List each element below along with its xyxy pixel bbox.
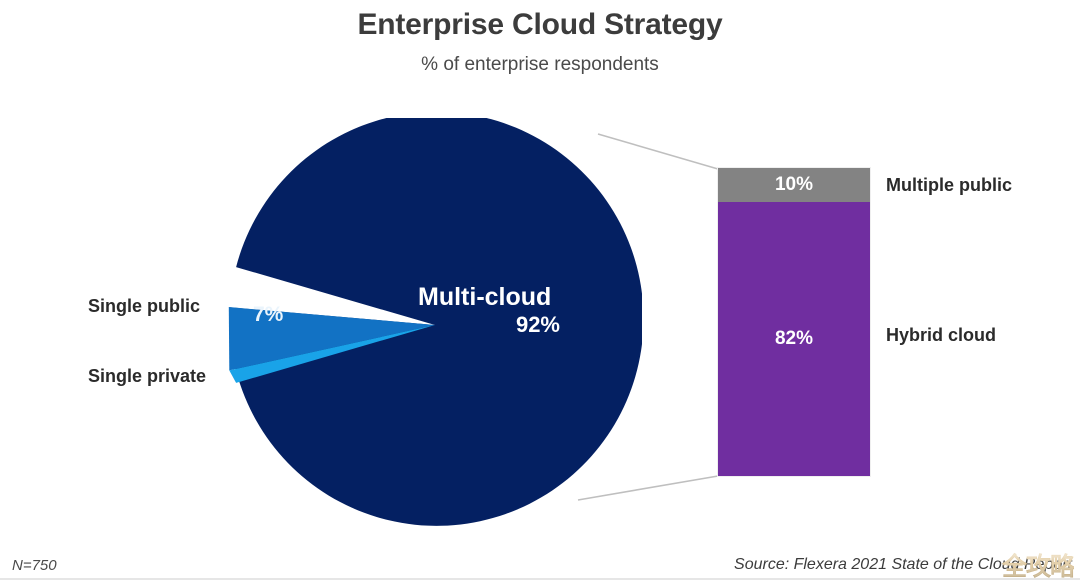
chart-title: Enterprise Cloud Strategy xyxy=(0,8,1080,42)
legend-label-hybrid-cloud: Hybrid cloud xyxy=(886,325,996,346)
legend-label-single-public: Single public xyxy=(88,296,200,317)
legend-label-multiple-public: Multiple public xyxy=(886,175,1012,196)
sample-size-note: N=750 xyxy=(12,557,57,574)
bar-segment-multiple-public-value: 10% xyxy=(775,174,813,196)
watermark-text: 全攻略 xyxy=(1002,547,1074,580)
chart-subtitle: % of enterprise respondents xyxy=(0,54,1080,76)
bar-segment-hybrid-cloud-value: 82% xyxy=(775,328,813,350)
bar-segment-multiple-public[interactable]: 10% xyxy=(718,168,870,202)
chart-slide: Enterprise Cloud Strategy % of enterpris… xyxy=(0,0,1080,580)
pie-chart-svg xyxy=(228,118,642,532)
bar-segment-hybrid-cloud[interactable]: 82% xyxy=(718,202,870,476)
legend-label-single-private: Single private xyxy=(88,366,206,387)
pie-chart xyxy=(228,118,642,532)
stacked-bar-chart: 10% 82% xyxy=(718,168,870,476)
